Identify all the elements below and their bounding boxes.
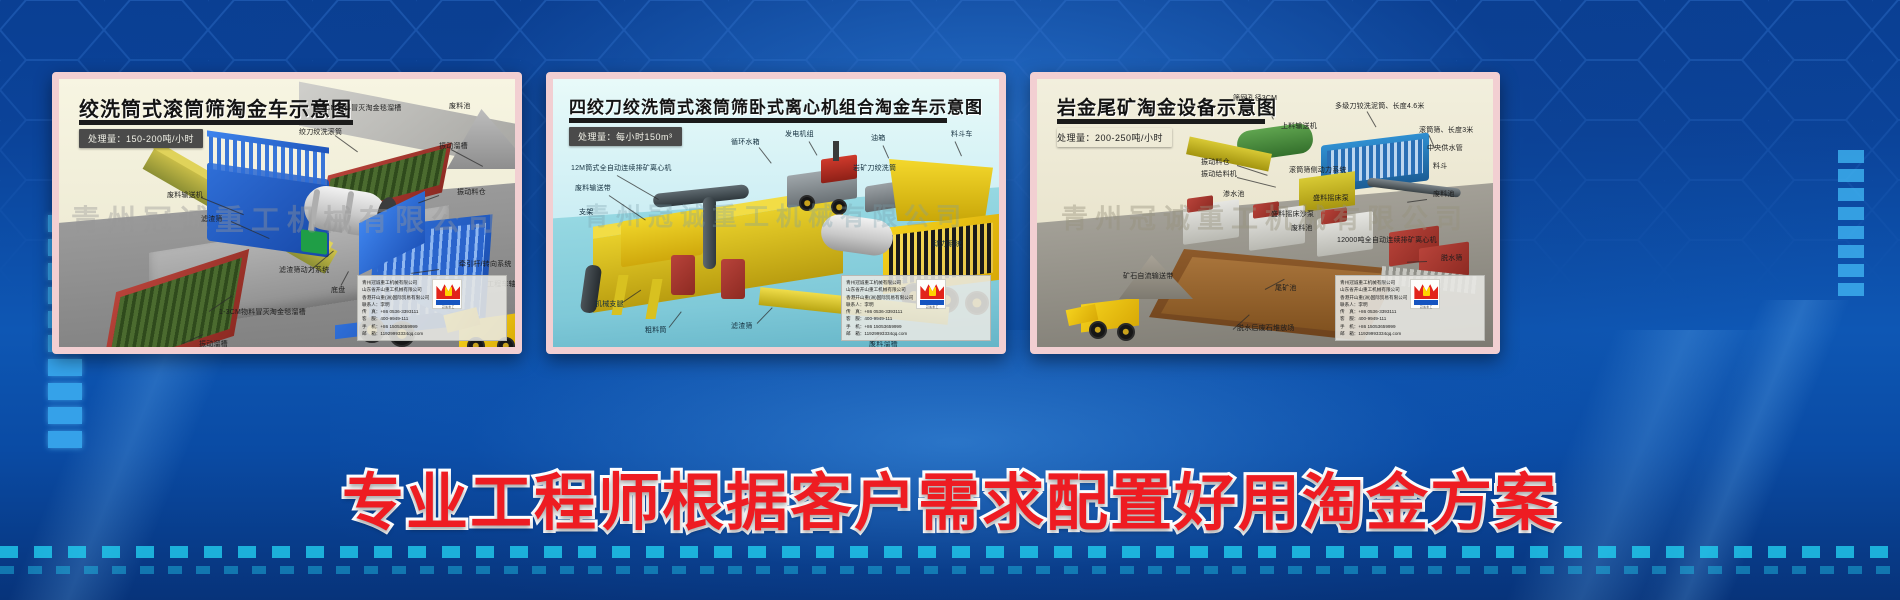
dashed-divider <box>0 546 1900 558</box>
contact-line: 邮 箱：11929993334qq.com <box>362 330 429 337</box>
contact-line: 客 服：400-9949-111 <box>362 315 429 322</box>
label-gold-mat-1cm: <1CM物料冒灭淘金毯溜槽 <box>317 105 401 113</box>
label-filter-screen: 滤渣筛 <box>731 323 753 331</box>
panel-2-title: 四绞刀绞洗筒式滚筒筛卧式离心机组合淘金车示意图 <box>569 93 983 118</box>
label-cutter-washer: 多级刀铰洗泥筒、长度4.6米 <box>1335 103 1425 111</box>
label-screen-power: 滤渣筛动力系统 <box>279 267 329 275</box>
diagram-panel-1[interactable]: 绞洗筒式滚筒筛淘金车示意图 处理量：150-200吨/小时 青州冠诚重工机械有限… <box>52 72 522 354</box>
pipe-support <box>721 259 745 299</box>
logo-caption: 冠诚重工 <box>436 306 460 310</box>
material-pipe-vertical <box>703 197 716 269</box>
contact-line: 邮 箱：11929993334qq.com <box>1340 330 1407 337</box>
label-fuel-tank: 油箱 <box>871 135 885 143</box>
contact-line: 客 服：400-9949-111 <box>1340 315 1407 322</box>
contact-lines: 青州冠诚重工机械有限公司 山东省开山重工机械有限公司 香港开山重(洲)国际贸易有… <box>362 279 429 337</box>
label-mech-leg: 机械支腿 <box>595 301 624 309</box>
label-coarse-drum: 粗料筒 <box>645 327 667 335</box>
hopper-truck-bin <box>889 159 993 221</box>
label-centrifuge: 12M筒式全自动连续排矿离心机 <box>571 165 672 173</box>
contact-line: 山东省开山重工机械有限公司 <box>1340 286 1407 293</box>
label-vib-chute-2: 振动溜槽 <box>199 341 228 349</box>
exhaust-stack <box>833 141 839 161</box>
label-waste-pile: 废料池 <box>449 103 471 111</box>
logo-base <box>1414 300 1438 305</box>
panel-2-title-underline <box>569 118 947 123</box>
logo-base <box>436 300 460 305</box>
drum-drive-motor <box>301 229 327 255</box>
label-seepage-pool: 渗水池 <box>1223 191 1245 199</box>
label-mesh-size: 筛网孔径3CM <box>1233 95 1277 103</box>
panel-1-capacity-badge: 处理量：150-200吨/小时 <box>79 129 203 148</box>
label-vib-bin: 振动料仓 <box>1201 159 1230 167</box>
panel-1-title: 绞洗筒式滚筒筛淘金车示意图 <box>79 93 352 122</box>
panel-2-contact-card: 青州冠诚重工机械有限公司 山东省开山重工机械有限公司 香港开山重(洲)国际贸易有… <box>841 275 991 341</box>
contact-line: 香港开山重(洲)国际贸易有限公司 <box>846 294 913 301</box>
contact-line: 传 真：+86 0536-3393111 <box>362 308 429 315</box>
label-waste-belt: 废料输送带 <box>575 185 611 193</box>
panel-1-contact-card: 青州冠诚重工机械有限公司 山东省开山重工机械有限公司 香港开山重(洲)国际贸易有… <box>357 275 507 341</box>
label-water-pipe: 中央供水管 <box>1427 145 1463 153</box>
label-power-system: 动力系统 <box>933 241 962 249</box>
crown-icon <box>920 283 944 299</box>
label-vib-chute: 振动溜槽 <box>439 143 468 151</box>
genset-wheel <box>831 199 847 215</box>
label-steering: 牵引杆/转向系统 <box>459 261 512 269</box>
dashed-divider-secondary <box>0 566 1900 574</box>
contact-line: 香港开山重(洲)国际贸易有限公司 <box>362 294 429 301</box>
panel-3-title-underline <box>1057 119 1265 124</box>
label-feed-conveyor: 上料输送机 <box>1281 123 1317 131</box>
label-centrifuge-12000: 12000吨全自动连续排矿离心机 <box>1337 237 1437 245</box>
contact-line: 青州冠诚重工机械有限公司 <box>362 279 429 286</box>
panel-2-capacity-badge: 处理量：每小时150m³ <box>569 127 682 146</box>
label-ore-conveyor: 矿石自流输送带 <box>1123 273 1173 281</box>
diagram-panel-2[interactable]: 四绞刀绞洗筒式滚筒筛卧式离心机组合淘金车示意图 处理量：每小时150m³ 青州冠… <box>546 72 1006 354</box>
label-chassis: 底盘 <box>331 287 345 295</box>
label-waste-rock-yard: 脱水后废石堆放场 <box>1237 325 1295 333</box>
label-vib-feeder: 振动给料机 <box>1201 171 1237 179</box>
company-logo-icon: 冠诚重工 <box>432 279 462 309</box>
company-logo-icon: 冠诚重工 <box>916 279 946 309</box>
company-logo-icon: 冠诚重工 <box>1410 279 1440 309</box>
crown-icon <box>436 283 460 299</box>
contact-line: 联系人：李明 <box>1340 301 1407 308</box>
right-led-column <box>1838 150 1864 296</box>
label-waste-chute: 废料溜槽 <box>869 341 898 349</box>
contact-line: 传 真：+86 0536-3393111 <box>1340 308 1407 315</box>
logo-caption: 冠诚重工 <box>920 306 944 310</box>
label-feed-bucket: 料斗 <box>1433 163 1447 171</box>
contact-line: 手 机：+86 15053659999 <box>846 323 913 330</box>
label-tailings-pond: 尾矿池 <box>1275 285 1297 293</box>
label-wash-drum: 岩矿刀绞洗筒 <box>853 165 896 173</box>
contact-line: 联系人：李明 <box>846 301 913 308</box>
diagram-panel-3[interactable]: 岩金尾矿淘金设备示意图 处理量：200-250吨/小时 青州冠诚重工机械有限公司… <box>1030 72 1500 354</box>
label-support: 支架 <box>579 209 593 217</box>
label-feed-hopper: 料斗车 <box>951 131 973 139</box>
label-slurry-pump: 盛料摇床泵 <box>1313 195 1349 203</box>
engine-block <box>821 154 857 183</box>
label-waste-pool-2: 废料池 <box>1291 225 1313 233</box>
contact-line: 香港开山重(洲)国际贸易有限公司 <box>1340 294 1407 301</box>
label-waste-conveyor: 废料输送机 <box>167 192 203 200</box>
contact-line: 客 服：400-9949-111 <box>846 315 913 322</box>
panel-3-capacity-badge: 处理量：200-250吨/小时 <box>1057 128 1172 147</box>
label-gold-mat-3cm: 1-3CM物料冒灭淘金毯溜槽 <box>219 309 306 317</box>
contact-line: 手 机：+86 15053659999 <box>1340 323 1407 330</box>
label-waste-pool: 废料池 <box>1433 191 1455 199</box>
contact-lines: 青州冠诚重工机械有限公司 山东省开山重工机械有限公司 香港开山重(洲)国际贸易有… <box>846 279 913 337</box>
label-drum-power: 滚筒筛侧动力系统 <box>1289 167 1347 175</box>
contact-line: 山东省开山重工机械有限公司 <box>362 286 429 293</box>
contact-line: 邮 箱：11929993334qq.com <box>846 330 913 337</box>
label-slurry-sandpump: 盛料摇床沙泵 <box>1271 211 1314 219</box>
contact-line: 青州冠诚重工机械有限公司 <box>846 279 913 286</box>
label-trommel-len: 滚筒筛、长度3米 <box>1419 127 1474 135</box>
panel-1-title-underline <box>79 120 353 125</box>
contact-line: 联系人：李明 <box>362 301 429 308</box>
label-filter-screen: 滤渣筛 <box>201 216 223 224</box>
label-water-tank: 循环水箱 <box>731 139 760 147</box>
contact-line: 手 机：+86 15053659999 <box>362 323 429 330</box>
label-dewater-screen: 脱水筛 <box>1441 255 1463 263</box>
logo-caption: 冠诚重工 <box>1414 306 1438 310</box>
contact-line: 山东省开山重工机械有限公司 <box>846 286 913 293</box>
banner-headline: 专业工程师根据客户需求配置好用淘金方案 <box>0 452 1900 542</box>
contact-lines: 青州冠诚重工机械有限公司 山东省开山重工机械有限公司 香港开山重(洲)国际贸易有… <box>1340 279 1407 337</box>
label-vib-hopper: 振动料仓 <box>457 189 486 197</box>
contact-line: 青州冠诚重工机械有限公司 <box>1340 279 1407 286</box>
label-generator: 发电机组 <box>785 131 814 139</box>
genset-wheel <box>799 195 815 211</box>
loader-wheel <box>1089 321 1107 339</box>
label-trommel: 绞刀绞洗滚筒 <box>299 129 342 137</box>
panel-3-contact-card: 青州冠诚重工机械有限公司 山东省开山重工机械有限公司 香港开山重(洲)国际贸易有… <box>1335 275 1485 341</box>
pipe-support <box>671 255 695 295</box>
loader-wheel <box>1117 323 1135 341</box>
crown-icon <box>1414 283 1438 299</box>
logo-base <box>920 300 944 305</box>
contact-line: 传 真：+86 0536-3393111 <box>846 308 913 315</box>
